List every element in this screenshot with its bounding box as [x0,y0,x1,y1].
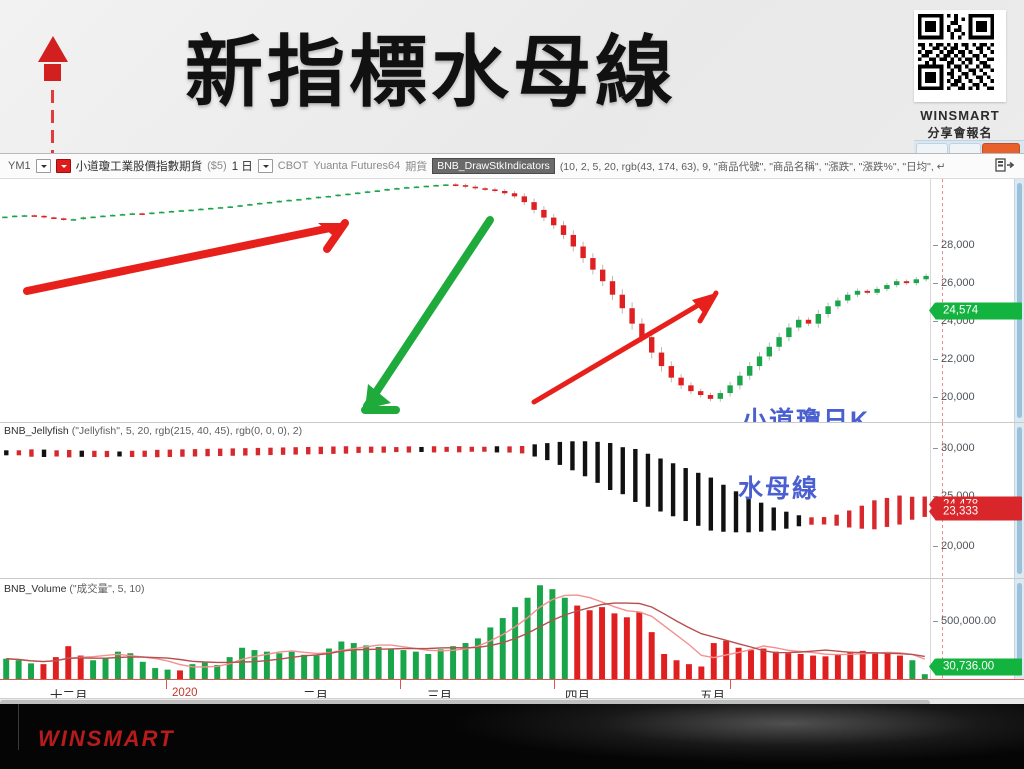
volume-axis[interactable]: 500,000.00 30,736.00 [930,579,1024,679]
study-chip[interactable]: BNB_DrawStkIndicators [432,158,555,174]
jellyfish-pane-label: BNB_Jellyfish ("Jellyfish", 5, 20, rgb(2… [4,425,302,437]
jellyfish-plot[interactable]: 水母線 [0,423,931,578]
instrument-type-label: 期貨 [405,158,427,174]
price-axis[interactable]: 28,000 26,000 24,000 22,000 20,000 18,00… [930,179,1024,422]
qr-signup-block[interactable]: WINSMART 分享會報名 [914,10,1006,141]
marker-dashed-line [51,90,54,153]
volume-study-args: ("成交量", 5, 10) [69,583,144,595]
marker-triangle-icon [38,36,68,62]
browser-tab-2[interactable] [949,143,981,153]
price-plot[interactable]: 小道瓊日K [0,179,931,422]
data-source-label: Yuanta Futures64 [313,160,400,172]
volume-pane-label: BNB_Volume ("成交量", 5, 10) [4,581,145,596]
page-title: 新指標水母線 [185,28,785,116]
qr-brand-label: WINSMART [914,108,1006,123]
red-color-swatch-dropdown[interactable] [56,159,71,173]
chevron-down-icon[interactable] [36,159,51,173]
last-price-tag: 24,574 [935,303,1022,320]
price-tick: 20,000 [941,391,975,403]
browser-tabstrip[interactable] [914,140,1024,153]
jellyfish-pane[interactable]: BNB_Jellyfish ("Jellyfish", 5, 20, rgb(2… [0,423,1024,579]
last-volume-tag: 30,736.00 [935,659,1022,676]
study-args: (10, 2, 5, 20, rgb(43, 174, 63), 9, "商品代… [560,159,946,174]
footer-banner: WINSMART [0,704,1024,769]
header-banner: 新指標水母線 [0,0,1024,153]
marker-square-icon [44,64,61,81]
jellyfish-pane-annotation: 水母線 [738,469,819,505]
symbol-name: 小道瓊工業股價指數期貨 [76,158,203,174]
jellyfish-axis[interactable]: 30,000 25,000 20,000 24,478 23,333 [930,423,1024,578]
jellyfish-value-tag: 23,333 [935,504,1022,521]
jellyfish-tick: 30,000 [941,442,975,454]
green-downtrend-arrow [365,220,490,410]
qr-subtitle-label: 分享會報名 [914,124,1006,141]
jellyfish-tick: 20,000 [941,540,975,552]
volume-tick: 500,000.00 [941,615,996,627]
price-pane[interactable]: 小道瓊日K 28,000 26,000 24,000 22,000 20,000… [0,179,1024,423]
contract-size: ($5) [207,160,227,172]
price-pane-annotation: 小道瓊日K [742,401,870,423]
qr-code[interactable] [914,10,1006,102]
candlestick-chart [0,179,931,422]
red-up-triangle-marker [36,36,70,153]
footer-divider [18,704,19,750]
volume-pane[interactable]: BNB_Volume ("成交量", 5, 10) 500,000.00 30,… [0,579,1024,679]
exchange-label: CBOT [278,160,309,172]
price-axis-crosshair [942,179,943,422]
red-uptrend-arrow-right [534,293,716,402]
jellyfish-study-args: ("Jellyfish", 5, 20, rgb(215, 40, 45), r… [72,425,302,437]
symbol-code: YM1 [8,160,31,172]
price-tick: 26,000 [941,277,975,289]
price-pane-scrollbar[interactable] [1014,179,1024,422]
browser-tab-1[interactable] [916,143,948,153]
red-uptrend-arrow-left [27,223,345,291]
volume-study-name: BNB_Volume [4,583,66,595]
chart-toolbar[interactable]: YM1 小道瓊工業股價指數期貨 ($5) 1 日 CBOT Yuanta Fut… [0,154,1024,179]
jellyfish-study-name: BNB_Jellyfish [4,425,69,437]
chart-application: YM1 小道瓊工業股價指數期貨 ($5) 1 日 CBOT Yuanta Fut… [0,153,1024,705]
footer-image-fade [404,704,1024,769]
panel-toggle-icon[interactable] [994,157,1016,173]
interval-label[interactable]: 1 日 [232,158,253,174]
footer-logo: WINSMART [38,726,175,752]
interval-chevron-down-icon[interactable] [258,159,273,173]
price-tick: 28,000 [941,239,975,251]
browser-tab-active[interactable] [982,143,1020,153]
price-tick: 22,000 [941,353,975,365]
